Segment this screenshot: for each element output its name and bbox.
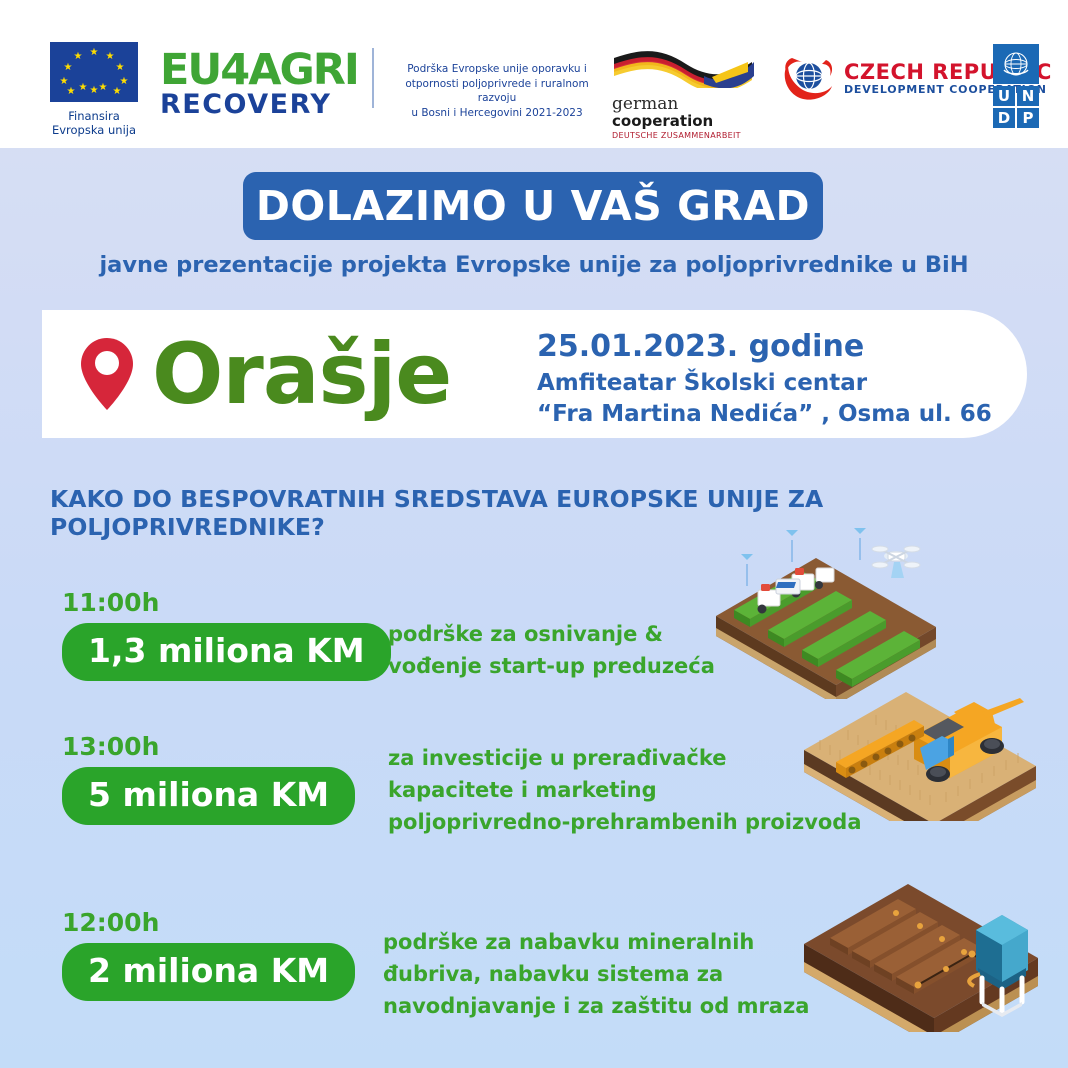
location-card: Orašje 25.01.2023. godine Amfiteatar Ško… [42,310,1027,438]
header-divider [372,48,374,108]
eu4agri-recovery-word: RECOVERY [160,90,350,119]
german-line1: german [612,95,762,113]
german-logo-text: german cooperation DEUTSCHE ZUSAMMENARBE… [612,95,762,140]
program-item-2: 13:00h 5 miliona KM [62,732,355,825]
undp-letter-n: N [1017,86,1039,106]
program-desc-2-line1: za investicije u prerađivačke [388,742,862,774]
undp-letter-u: U [993,86,1015,106]
program-amount-badge-2: 5 miliona KM [62,767,355,825]
note-line3: u Bosni i Hercegovini 2021-2023 [392,106,602,121]
venue-line2: “Fra Martina Nedića” , Osma ul. 66 [537,399,992,429]
eu-flag-logo: ★ ★ ★ ★ ★ ★ ★ ★ ★ ★ ★ ★ Finansira Evrops… [44,42,144,137]
program-description-3: podrške za nabavku mineralnih đubriva, n… [383,926,809,1022]
program-desc-3-line3: navodnjavanje i za zaštitu od mraza [383,990,809,1022]
german-bosnia-ribbon-icon [612,46,762,88]
program-desc-3-line2: đubriva, nabavku sistema za [383,958,809,990]
program-time-1: 11:00h [62,588,391,618]
un-globe-emblem-icon [993,44,1039,84]
program-description-2: za investicije u prerađivačke kapacitete… [388,742,862,838]
main-title-text: DOLAZIMO U VAŠ GRAD [256,182,810,230]
event-date: 25.01.2023. godine [537,328,864,366]
note-line2: otpornosti poljoprivrede i ruralnom razv… [392,77,602,106]
czech-globe-hand-icon [782,54,836,102]
program-desc-1-line1: podrške za osnivanje & [388,618,715,650]
city-name: Orašje [152,322,451,426]
program-time-2: 13:00h [62,732,355,762]
note-line1: Podrška Evropske unije oporavku i [392,62,602,77]
combine-harvester-icon [796,676,1046,821]
german-line3: DEUTSCHE ZUSAMMENARBEIT [612,131,762,140]
program-desc-1-line2: vođenje start-up preduzeća [388,650,715,682]
undp-letter-d: D [993,108,1015,128]
eu4agri-logo: EU4AGRI RECOVERY [160,48,350,119]
program-amount-badge-3: 2 miliona KM [62,943,355,1001]
subtitle-text: javne prezentacije projekta Evropske uni… [0,252,1068,278]
program-time-3: 12:00h [62,908,355,938]
program-description-1: podrške za osnivanje & vođenje start-up … [388,618,715,682]
undp-letters: U N D P [993,86,1039,128]
eu4agri-wordmark: EU4AGRI [160,48,350,92]
map-pin-icon [78,336,136,412]
program-desc-2-line2: kapacitete i marketing [388,774,862,806]
water-tower-field-icon [796,852,1046,1032]
smart-crop-field-icon [706,524,946,699]
venue-line1: Amfiteatar Školski centar [537,368,867,398]
undp-letter-p: P [1017,108,1039,128]
header-logo-band: ★ ★ ★ ★ ★ ★ ★ ★ ★ ★ ★ ★ Finansira Evrops… [0,0,1068,148]
program-item-1: 11:00h 1,3 miliona KM [62,588,391,681]
main-title-banner: DOLAZIMO U VAŠ GRAD [243,172,823,240]
german-cooperation-logo: german cooperation DEUTSCHE ZUSAMMENARBE… [612,46,762,140]
eu-flag-icon: ★ ★ ★ ★ ★ ★ ★ ★ ★ ★ ★ ★ [50,42,138,102]
german-line2: cooperation [612,113,762,130]
program-item-3: 12:00h 2 miliona KM [62,908,355,1001]
eu-logo-caption: Finansira Evropska unija [44,109,144,137]
undp-logo: U N D P [993,44,1041,128]
program-amount-badge-1: 1,3 miliona KM [62,623,391,681]
program-desc-2-line3: poljoprivredno-prehrambenih proizvoda [388,806,862,838]
eu-caption-line1: Finansira [44,109,144,123]
program-desc-3-line1: podrške za nabavku mineralnih [383,926,809,958]
eu-caption-line2: Evropska unija [44,123,144,137]
eu-support-note: Podrška Evropske unije oporavku i otporn… [392,62,602,120]
poster-root: ★ ★ ★ ★ ★ ★ ★ ★ ★ ★ ★ ★ Finansira Evrops… [0,0,1068,1068]
